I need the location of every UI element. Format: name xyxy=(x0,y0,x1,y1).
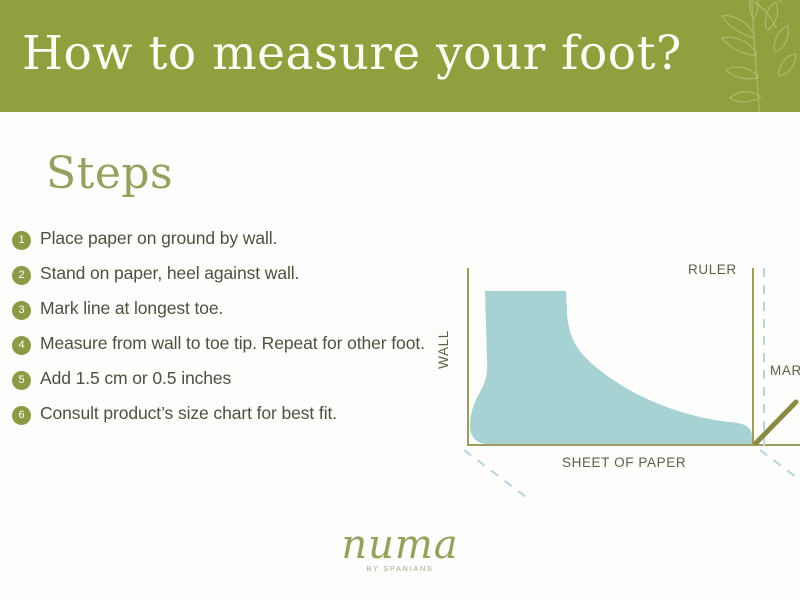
foot-measurement-diagram: WALL RULER MAR SHEET OF PAPER xyxy=(430,250,800,500)
brand-logo: numa BY SPANIANS xyxy=(0,524,800,573)
logo-subtitle: BY SPANIANS xyxy=(0,564,800,573)
steps-list: 1 Place paper on ground by wall. 2 Stand… xyxy=(12,228,432,438)
step-number-badge: 4 xyxy=(12,336,31,355)
page-title: How to measure your foot? xyxy=(22,26,682,81)
page-header: How to measure your foot? xyxy=(0,0,800,112)
pencil-icon xyxy=(752,402,796,446)
step-text: Mark line at longest toe. xyxy=(40,298,223,319)
list-item: 5 Add 1.5 cm or 0.5 inches xyxy=(12,368,432,390)
step-text: Add 1.5 cm or 0.5 inches xyxy=(40,368,231,389)
steps-heading: Steps xyxy=(46,148,173,199)
step-number-badge: 1 xyxy=(12,231,31,250)
step-text: Measure from wall to toe tip. Repeat for… xyxy=(40,333,425,354)
diagram-label-sheet-of-paper: SHEET OF PAPER xyxy=(562,455,686,470)
list-item: 1 Place paper on ground by wall. xyxy=(12,228,432,250)
paper-corner-dash-right xyxy=(760,450,800,480)
step-text: Stand on paper, heel against wall. xyxy=(40,263,299,284)
diagram-label-mark: MAR xyxy=(770,363,800,378)
diagram-label-ruler: RULER xyxy=(688,262,737,277)
list-item: 6 Consult product’s size chart for best … xyxy=(12,403,432,425)
step-text: Place paper on ground by wall. xyxy=(40,228,277,249)
step-number-badge: 6 xyxy=(12,406,31,425)
step-text: Consult product’s size chart for best fi… xyxy=(40,403,337,424)
list-item: 2 Stand on paper, heel against wall. xyxy=(12,263,432,285)
paper-corner-dash-left xyxy=(464,450,530,500)
leaf-branch-icon xyxy=(688,0,798,112)
step-number-badge: 5 xyxy=(12,371,31,390)
step-number-badge: 2 xyxy=(12,266,31,285)
foot-silhouette-icon xyxy=(470,291,752,444)
list-item: 4 Measure from wall to toe tip. Repeat f… xyxy=(12,333,432,355)
list-item: 3 Mark line at longest toe. xyxy=(12,298,432,320)
logo-wordmark: numa xyxy=(0,524,800,566)
diagram-label-wall: WALL xyxy=(436,330,451,369)
step-number-badge: 3 xyxy=(12,301,31,320)
